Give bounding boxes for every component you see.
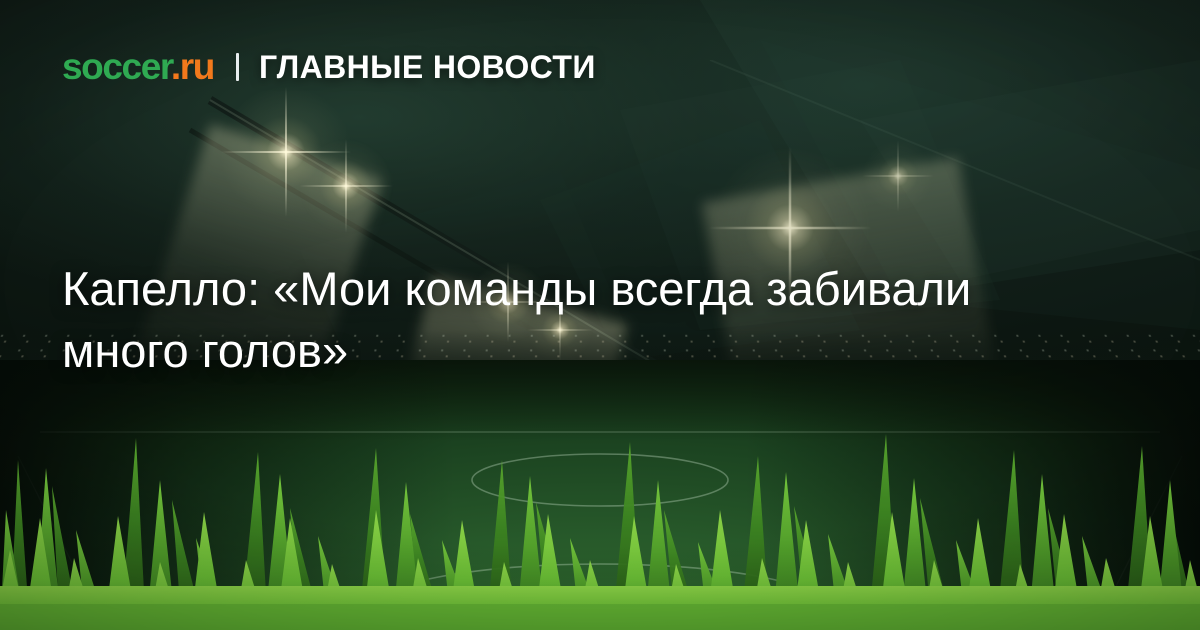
- soccer-ru-logo[interactable]: soccer.ru: [62, 48, 214, 85]
- page-title: Капелло: «Мои команды всегда забивали мн…: [62, 258, 1022, 382]
- logo-domain-part: .ru: [171, 46, 214, 87]
- header-separator: [236, 53, 239, 81]
- pitch-shading: [0, 360, 1200, 630]
- share-card: soccer.ru ГЛАВНЫЕ НОВОСТИ Капелло: «Мои …: [0, 0, 1200, 630]
- football-pitch: [0, 360, 1200, 630]
- card-header: soccer.ru ГЛАВНЫЕ НОВОСТИ: [62, 48, 596, 85]
- header-kicker: ГЛАВНЫЕ НОВОСТИ: [259, 51, 596, 83]
- logo-name-part: soccer: [62, 46, 171, 87]
